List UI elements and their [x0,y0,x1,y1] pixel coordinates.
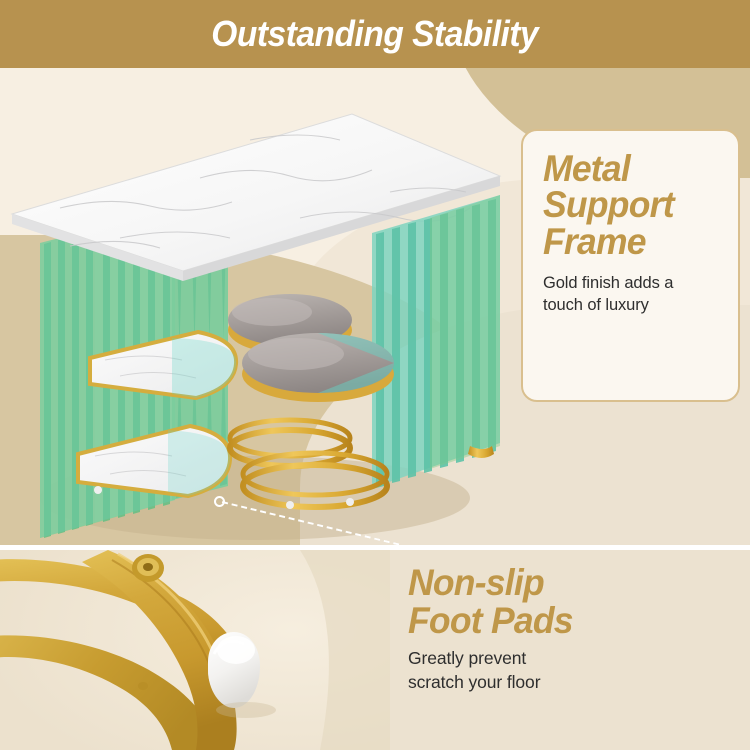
info-card-title: Metal Support Frame [543,151,713,260]
foot-pad-title-line-1: Non-slip [408,564,725,602]
info-card-subtitle-line-1: Gold finish adds a [543,272,720,294]
foot-pad-left [94,486,102,494]
info-card-subtitle: Gold finish adds a touch of luxury [543,272,720,317]
info-card-metal-support-frame: Metal Support Frame Gold finish adds a t… [521,129,740,402]
foot-pad-svg [0,550,390,750]
foot-pad-closeup-photo [0,550,390,750]
foot-pad-text-block: Non-slip Foot Pads Greatly prevent scrat… [408,564,738,694]
page-title: Outstanding Stability [212,13,539,55]
foot-pad-title: Non-slip Foot Pads [408,564,725,641]
foot-pad-title-line-2: Foot Pads [408,602,725,640]
info-card-title-line-3: Frame [543,224,713,260]
infographic-page: Outstanding Stability [0,0,750,750]
header-banner: Outstanding Stability [0,0,750,68]
info-card-title-line-1: Metal [543,151,713,187]
product-illustration [0,68,520,545]
info-card-title-line-2: Support [543,187,713,223]
product-showcase-section: Metal Support Frame Gold finish adds a t… [0,68,750,545]
product-svg [0,68,520,545]
foot-pad-section: Non-slip Foot Pads Greatly prevent scrat… [0,550,750,750]
foot-pad-subtitle-line-1: Greatly prevent [408,647,738,671]
callout-marker-dot [214,496,225,507]
info-card-subtitle-line-2: touch of luxury [543,294,720,316]
foot-pad-subtitle: Greatly prevent scratch your floor [408,647,738,694]
foot-pad-subtitle-line-2: scratch your floor [408,671,738,695]
